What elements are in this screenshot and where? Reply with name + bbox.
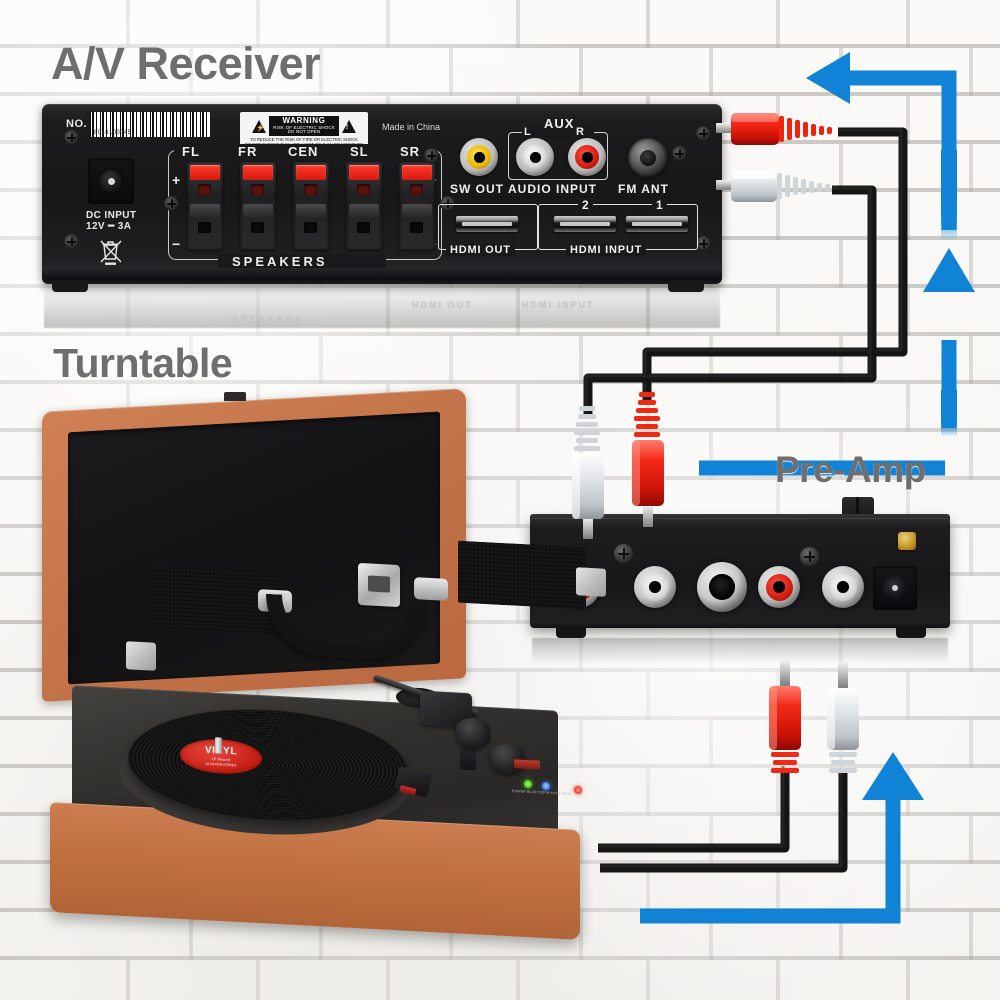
- speaker-terminal-sr[interactable]: [399, 162, 435, 250]
- receiver-foot-left: [52, 281, 88, 292]
- hdmi-out-label: HDMI OUT: [446, 244, 515, 256]
- dc-input-label-line2: 12V ━ 3A: [86, 221, 131, 232]
- turntable-lid-clasp: [224, 392, 246, 401]
- serial-number-label: NO.: [66, 118, 87, 130]
- speaker-terminal-cen[interactable]: [293, 162, 329, 250]
- warning-sub2: DO NOT OPEN: [273, 130, 335, 135]
- speakers-group-label: SPEAKERS: [232, 254, 328, 269]
- hdmi-out-port[interactable]: [456, 216, 518, 232]
- reflection-label-hdmi-input: HDMI INPUT: [522, 300, 595, 310]
- sw-out-jack[interactable]: [460, 138, 498, 176]
- audio-input-left-jack[interactable]: [516, 138, 554, 176]
- terminal-clip-positive[interactable]: [190, 165, 220, 180]
- jack-hole: [709, 574, 735, 600]
- speaker-channel-label-sl: SL: [350, 144, 369, 159]
- terminal-clip-positive[interactable]: [349, 165, 379, 180]
- dc-input-label-line1: DC INPUT: [86, 210, 136, 221]
- aux-left-label: L: [524, 126, 531, 138]
- terminal-hole-positive: [410, 184, 423, 195]
- screw-icon: [696, 236, 711, 251]
- fm-antenna-core: [640, 150, 656, 166]
- led-indicator-blue: [542, 782, 550, 790]
- speaker-terminal-fl[interactable]: [187, 162, 223, 250]
- terminal-clip-negative[interactable]: [296, 204, 326, 219]
- hdmi-input-port-2[interactable]: [554, 216, 616, 232]
- terminal-hole-negative: [251, 222, 264, 233]
- label-av-receiver: A/V Receiver: [51, 38, 320, 90]
- screw-icon: [424, 148, 439, 163]
- led-indicator-green: [524, 780, 532, 788]
- turntable-suitcase-record-player[interactable]: VINYL LP Record 33 1/3 RPM STEREO POWER …: [28, 392, 608, 962]
- ground-terminal-screw[interactable]: [898, 532, 916, 550]
- screw-icon: [164, 196, 179, 211]
- crossed-out-wheelie-bin-icon: [98, 238, 124, 266]
- turntable-speaker-grille-right: [458, 541, 586, 610]
- dc-input-jack[interactable]: [88, 158, 134, 204]
- preamp-jack-center-black[interactable]: [697, 562, 747, 612]
- made-in-label: Made in China: [382, 122, 440, 132]
- turntable-knob-speed[interactable]: [456, 717, 490, 749]
- terminal-hole-positive: [304, 184, 317, 195]
- hdmi-input-number-2: 2: [578, 198, 593, 212]
- turntable-lid[interactable]: [42, 388, 466, 702]
- terminal-hole-negative: [410, 222, 423, 233]
- barcode-digits: 8016100045: [94, 130, 131, 136]
- speaker-terminal-fr[interactable]: [240, 162, 276, 250]
- speaker-channel-label-cen: CEN: [288, 144, 318, 159]
- terminal-hole-negative: [304, 222, 317, 233]
- terminal-clip-positive[interactable]: [402, 165, 432, 180]
- polarity-plus-left: +: [172, 172, 180, 188]
- speaker-channel-label-sr: SR: [400, 144, 420, 159]
- preamp-jack-rca-red-2[interactable]: [758, 566, 800, 608]
- preamp-dc-power-jack[interactable]: [873, 566, 917, 610]
- sw-out-label: SW OUT: [450, 182, 504, 196]
- turntable-slider-switch[interactable]: [514, 759, 540, 769]
- fm-ant-label: FM ANT: [618, 182, 669, 196]
- hdmi-input-port-1[interactable]: [626, 216, 688, 232]
- dc-jack-pin: [892, 585, 898, 591]
- aux-label: AUX: [544, 116, 574, 131]
- terminal-clip-negative[interactable]: [349, 204, 379, 219]
- receiver-foot-right: [668, 281, 704, 292]
- dc-jack-hole: [98, 168, 124, 194]
- polarity-minus-left: −: [172, 236, 180, 252]
- dc-jack-pin: [108, 178, 115, 185]
- record-label-sub2: 33 1/3 RPM STEREO: [206, 761, 237, 767]
- reflection-label-speakers: SPEAKERS: [232, 315, 303, 326]
- fm-antenna-jack[interactable]: [628, 138, 668, 178]
- screw-icon: [672, 146, 687, 161]
- receiver-reflection: SPEAKERS HDMI OUT HDMI INPUT: [44, 284, 720, 328]
- dc-jack-hole: [883, 576, 907, 600]
- speaker-terminal-sl[interactable]: [346, 162, 382, 250]
- preamp-jack-rca-white-1[interactable]: [634, 566, 676, 608]
- screw-icon: [64, 234, 79, 249]
- speaker-channel-label-fl: FL: [182, 144, 200, 159]
- turntable-handle-mount-right: [414, 577, 448, 601]
- reflection-label-hdmi-out: HDMI OUT: [412, 300, 473, 310]
- turntable-corner-protector-right: [576, 567, 606, 597]
- hdmi-input-number-1: 1: [652, 198, 667, 212]
- screw-icon: [800, 547, 819, 566]
- exclamation-mark-icon: !: [342, 120, 356, 133]
- receiver-front-edge: [42, 268, 722, 284]
- terminal-clip-negative[interactable]: [190, 204, 220, 219]
- lightning-bolt-icon: ⚡: [252, 120, 266, 133]
- preamp-jack-rca-white-2[interactable]: [822, 566, 864, 608]
- terminal-hole-positive: [198, 184, 211, 195]
- terminal-clip-negative[interactable]: [402, 204, 432, 219]
- terminal-hole-positive: [357, 184, 370, 195]
- screw-icon: [614, 544, 633, 563]
- terminal-clip-positive[interactable]: [243, 165, 273, 180]
- aux-right-label: R: [576, 126, 584, 138]
- label-turntable: Turntable: [53, 340, 232, 387]
- av-receiver-rear-panel[interactable]: NO. 8016100045 ⚡ WARNING RISK OF ELECTRI…: [42, 104, 722, 272]
- terminal-hole-negative: [198, 222, 211, 233]
- terminal-hole-negative: [357, 222, 370, 233]
- audio-input-right-jack[interactable]: [568, 138, 606, 176]
- terminal-clip-negative[interactable]: [243, 204, 273, 219]
- speaker-channel-label-fr: FR: [238, 144, 257, 159]
- turntable-latch[interactable]: [358, 563, 400, 607]
- hdmi-input-label: HDMI INPUT: [566, 244, 646, 256]
- terminal-hole-positive: [251, 184, 264, 195]
- turntable-corner-protector-left: [126, 641, 156, 671]
- label-pre-amp: Pre-Amp: [775, 449, 926, 491]
- terminal-clip-positive[interactable]: [296, 165, 326, 180]
- turntable-spindle: [215, 737, 222, 753]
- preamp-foot-right: [896, 626, 926, 638]
- audio-input-label: AUDIO INPUT: [508, 182, 597, 196]
- screw-icon: [696, 126, 711, 141]
- screw-icon: [64, 130, 79, 145]
